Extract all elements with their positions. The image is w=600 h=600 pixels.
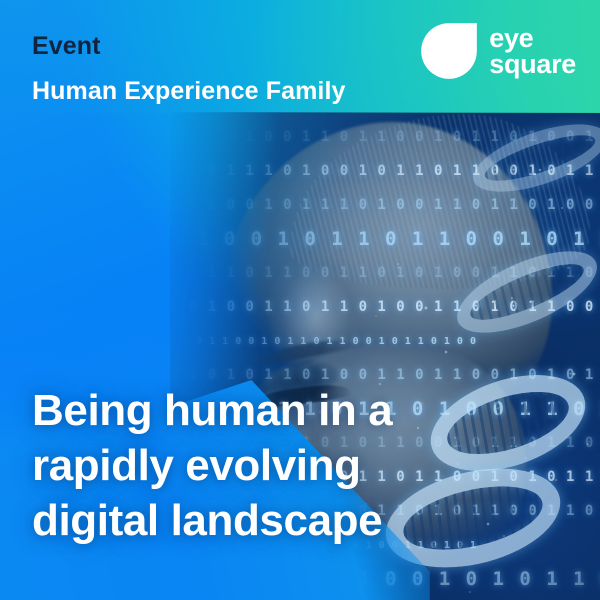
headline: Being human in a rapidly evolving digita… [32,383,462,548]
headline-line-1: Being human in a [32,383,462,438]
event-subtitle: Human Experience Family [32,79,346,104]
headline-line-3: digital landscape [32,493,462,548]
headline-line-2: rapidly evolving [32,438,462,493]
logo-word-line-2: square [489,51,576,77]
eye-square-logo-mark [420,22,478,80]
event-label: Event [32,34,101,59]
eye-square-wordmark: eye square [489,25,576,77]
logo-word-line-1: eye [489,25,576,51]
eye-square-logo[interactable]: eye square [420,22,576,80]
event-poster: 0 1 1 0 1 0 0 1 1 0 1 1 0 0 1 0 1 1 0 1 … [0,0,600,600]
